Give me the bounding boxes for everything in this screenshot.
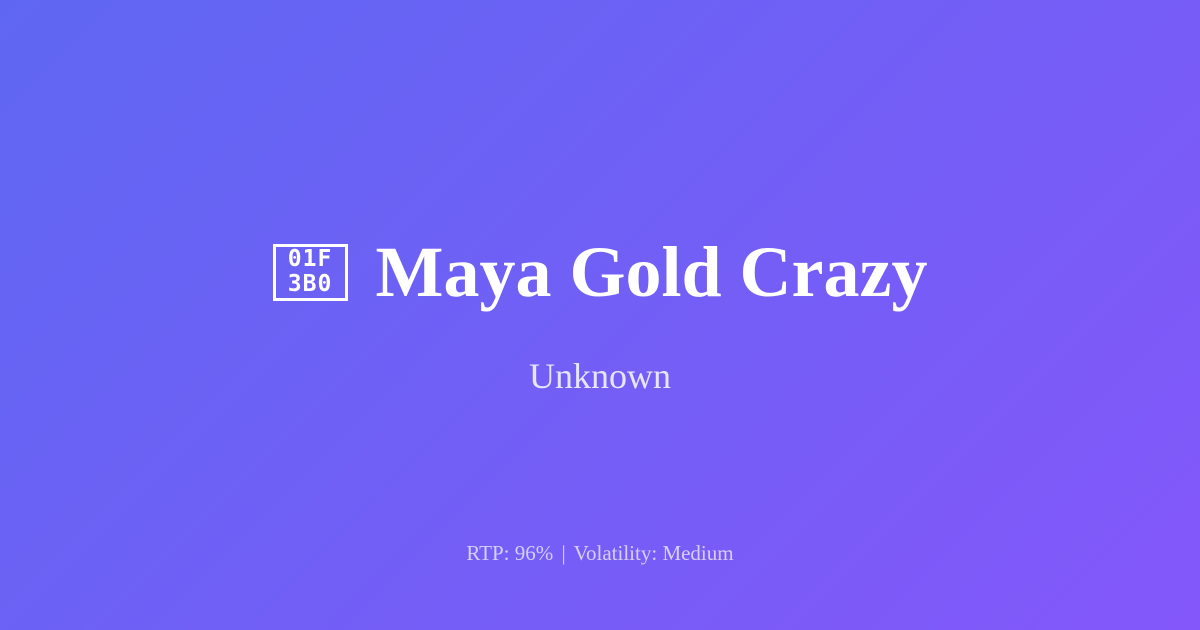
tofu-hex-top: 01F	[288, 247, 333, 272]
og-share-card: 01F 3B0 Maya Gold Crazy Unknown RTP: 96%…	[0, 0, 1200, 630]
rtp-label: RTP:	[466, 541, 509, 565]
volatility-label: Volatility:	[574, 541, 658, 565]
game-meta-footer: RTP: 96% | Volatility: Medium	[0, 543, 1200, 564]
provider-name: Unknown	[529, 358, 671, 394]
volatility-value: Medium	[662, 541, 733, 565]
title-row: 01F 3B0 Maya Gold Crazy	[0, 236, 1200, 308]
rtp-value: 96%	[515, 541, 554, 565]
slot-machine-icon: 01F 3B0	[273, 244, 348, 301]
meta-separator: |	[558, 541, 568, 565]
page-title: Maya Gold Crazy	[376, 236, 928, 308]
tofu-hex-bottom: 3B0	[288, 272, 333, 297]
